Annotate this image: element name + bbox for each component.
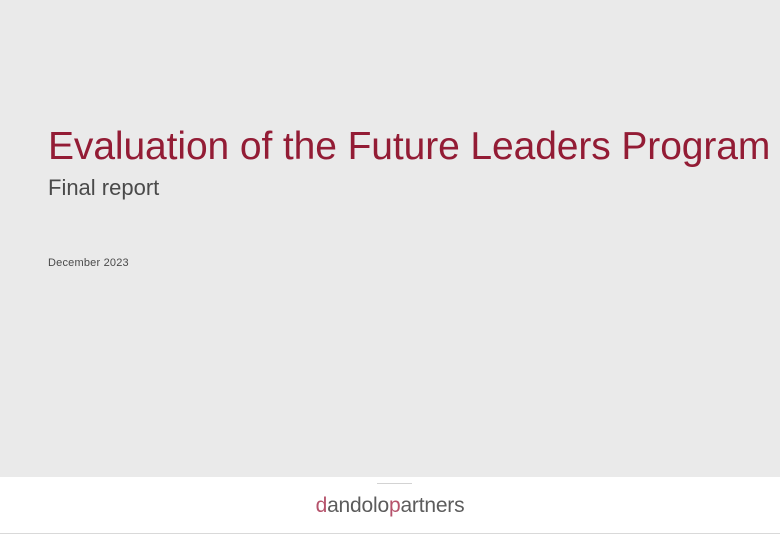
slide-bottom-rule (0, 533, 780, 534)
footer-divider (377, 483, 412, 484)
page-title: Evaluation of the Future Leaders Program (48, 124, 748, 170)
page-subtitle: Final report (48, 170, 748, 202)
title-slide: Evaluation of the Future Leaders Program… (0, 0, 780, 540)
title-block: Evaluation of the Future Leaders Program… (48, 124, 748, 202)
logo-text-part-1: d (316, 494, 327, 517)
slide-canvas (0, 0, 780, 477)
logo-text-part-2: andolo (327, 494, 389, 517)
slide-footer: dandolopartners (0, 477, 780, 533)
logo-text-part-3: p (389, 494, 400, 517)
dandolopartners-logo: dandolopartners (0, 493, 780, 519)
logo-text-part-4: artners (400, 494, 464, 517)
document-date: December 2023 (48, 256, 129, 270)
